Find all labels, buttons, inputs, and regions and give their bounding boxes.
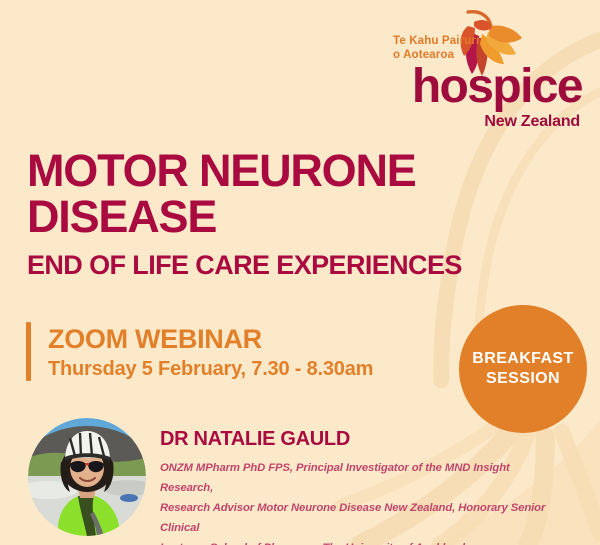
page-title: MOTOR NEURONE DISEASE xyxy=(27,148,547,240)
speaker-bio-line-2: Research Advisor Motor Neurone Disease N… xyxy=(160,498,560,538)
breakfast-session-badge: BREAKFAST SESSION xyxy=(459,305,587,433)
page-subtitle: END OF LIFE CARE EXPERIENCES xyxy=(27,250,462,281)
badge-line-2: SESSION xyxy=(486,369,560,389)
speaker-info: DR NATALIE GAULD ONZM MPharm PhD FPS, Pr… xyxy=(160,428,560,545)
logo-country: New Zealand xyxy=(384,113,580,131)
accent-bar xyxy=(26,322,31,381)
webinar-datetime: Thursday 5 February, 7.30 - 8.30am xyxy=(48,358,373,381)
hospice-nz-logo: Te Kahu Pairuri o Aotearoa hospice New Z… xyxy=(384,18,584,131)
logo-tagline-line1: Te Kahu Pairuri xyxy=(393,35,479,47)
logo-tagline-line2: o Aotearoa xyxy=(393,49,454,61)
webinar-details: ZOOM WEBINAR Thursday 5 February, 7.30 -… xyxy=(26,322,373,381)
speaker-photo xyxy=(28,418,146,536)
webinar-title: ZOOM WEBINAR xyxy=(48,324,373,354)
headline-line-1: MOTOR NEURONE xyxy=(27,148,547,194)
speaker-name: DR NATALIE GAULD xyxy=(160,428,560,451)
badge-line-1: BREAKFAST xyxy=(472,349,573,369)
avatar xyxy=(28,418,146,536)
speaker-bio: ONZM MPharm PhD FPS, Principal Investiga… xyxy=(160,458,560,545)
speaker-bio-line-3: Lecturer, School of Pharmacy, The Univer… xyxy=(160,538,560,545)
logo-tagline: Te Kahu Pairuri o Aotearoa xyxy=(393,34,513,62)
speaker-bio-line-1: ONZM MPharm PhD FPS, Principal Investiga… xyxy=(160,458,560,498)
poster-canvas: Te Kahu Pairuri o Aotearoa hospice New Z… xyxy=(0,0,600,545)
headline-line-2: DISEASE xyxy=(27,194,547,240)
